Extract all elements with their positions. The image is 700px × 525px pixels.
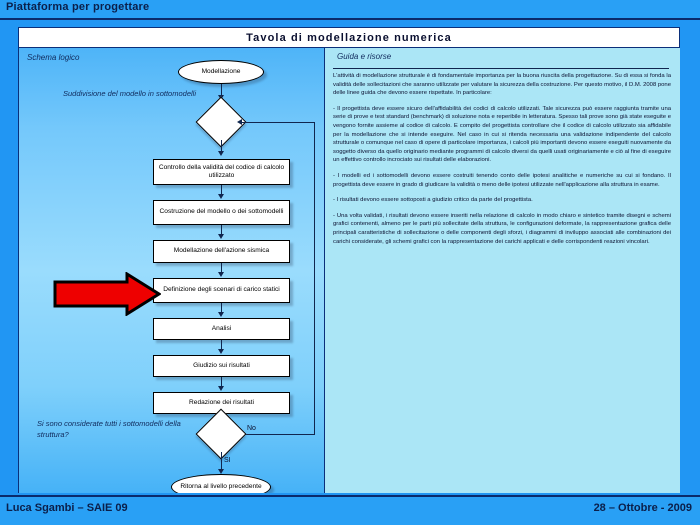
content-frame: Tavola di modellazione numerica Schema l…: [18, 27, 680, 493]
arrowhead-down-5: [218, 272, 224, 277]
app-header: Piattaforma per progettare: [0, 0, 700, 20]
slide-title-bar: Tavola di modellazione numerica: [19, 28, 679, 48]
arrowhead-down-4: [218, 234, 224, 239]
flowchart-subtitle: Suddivisione del modello in sottomodelli: [63, 89, 196, 98]
guidance-heading: Guida e risorse: [337, 52, 391, 61]
guidance-paragraph: - Il progettista deve essere sicuro dell…: [333, 105, 671, 165]
flowchart-panel: Schema logico Suddivisione del modello i…: [19, 48, 325, 493]
flow-node-n6[interactable]: Giudizio sui risultati: [153, 355, 290, 377]
branch-label-no: No: [247, 425, 256, 432]
arrowhead-down-2: [218, 151, 224, 156]
page-title: Tavola di modellazione numerica: [19, 28, 679, 48]
flow-node-n6-label: Giudizio sui risultati: [190, 362, 253, 371]
guidance-paragraph: - Una volta validati, i risultati devono…: [333, 212, 671, 246]
flow-node-end[interactable]: Ritorna al livello precedente: [171, 474, 271, 493]
flow-node-n3-label: Modellazione dell'azione sismica: [171, 247, 272, 256]
flow-node-n5[interactable]: Analisi: [153, 318, 290, 340]
flowchart-heading: Schema logico: [27, 53, 79, 62]
arrowhead-down-8: [218, 386, 224, 391]
guidance-divider: [333, 68, 669, 69]
arrowhead-down-6: [218, 312, 224, 317]
guidance-panel: Guida e risorse L'attività di modellazio…: [325, 48, 680, 493]
flow-node-n4[interactable]: Definizione degli scenari di carico stat…: [153, 278, 290, 303]
decision-question-label: Si sono considerate tutti i sottomodelli…: [37, 418, 197, 440]
flow-node-n2[interactable]: Costruzione del modello o dei sottomodel…: [153, 200, 290, 225]
flow-node-start-label: Modellazione: [199, 68, 244, 77]
connector-decision-to-end: [221, 452, 222, 470]
arrowhead-left-loop: [237, 119, 242, 125]
flow-node-n4-label: Definizione degli scenari di carico stat…: [160, 286, 283, 295]
footer-author: Luca Sgambi – SAIE 09: [6, 502, 128, 514]
red-arrow-pointer: [53, 272, 161, 316]
flow-node-end-label: Ritorna al livello precedente: [177, 483, 264, 492]
footer-date: 28 – Ottobre - 2009: [594, 502, 692, 514]
guidance-body: L'attività di modellazione strutturale è…: [333, 72, 671, 253]
flow-node-n1[interactable]: Controllo della validità del codice di c…: [153, 159, 290, 185]
app-footer: Luca Sgambi – SAIE 09 28 – Ottobre - 200…: [0, 495, 700, 525]
loop-rail-vertical: [314, 122, 315, 434]
flow-node-n5-label: Analisi: [209, 325, 234, 334]
guidance-paragraph: L'attività di modellazione strutturale è…: [333, 72, 671, 98]
slide-root: Piattaforma per progettare Tavola di mod…: [0, 0, 700, 525]
flow-node-n2-label: Costruzione del modello o dei sottomodel…: [157, 208, 287, 217]
flow-node-start[interactable]: Modellazione: [178, 60, 264, 84]
branch-label-yes: SI: [224, 457, 231, 464]
app-title: Piattaforma per progettare: [6, 1, 149, 13]
loop-rail-bottom: [241, 434, 315, 435]
arrowhead-down-3: [218, 194, 224, 199]
flow-node-n1-label: Controllo della validità del codice di c…: [154, 164, 289, 181]
arrowhead-down-7: [218, 349, 224, 354]
flow-node-n3[interactable]: Modellazione dell'azione sismica: [153, 240, 290, 263]
loop-rail-top: [241, 122, 315, 123]
flow-node-n7-label: Redazione dei risultati: [186, 399, 257, 408]
guidance-paragraph: - I modelli ed i sottomodelli devono ess…: [333, 172, 671, 189]
guidance-paragraph: - I risultati devono essere sottoposti a…: [333, 196, 671, 205]
